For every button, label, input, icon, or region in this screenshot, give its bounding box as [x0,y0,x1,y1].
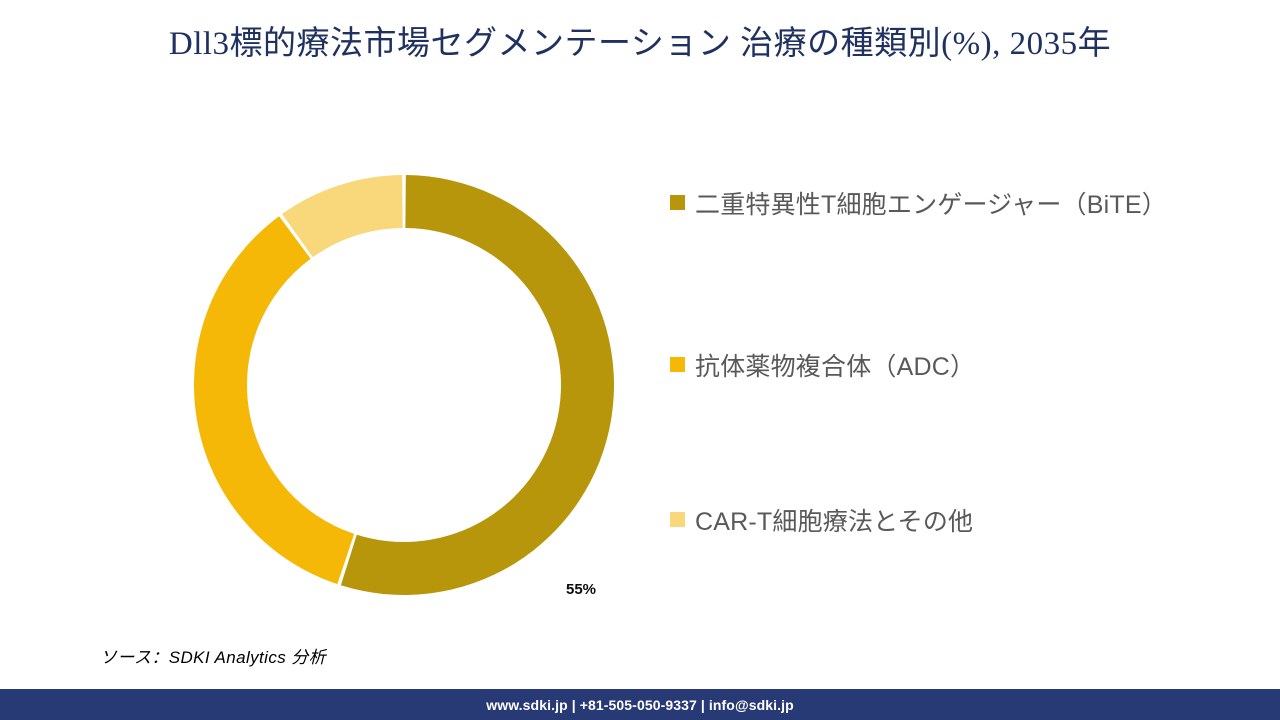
legend-item-bite[interactable]: 二重特異性T細胞エンゲージャー（BiTE） [670,186,1190,225]
donut-segment-2[interactable] [194,216,354,584]
source-note: ソース：SDKI Analytics 分析 [100,643,326,668]
legend-swatch-icon-adc [670,357,685,372]
legend-item-adc[interactable]: 抗体薬物複合体（ADC） [670,348,1190,387]
legend-label-bite: 二重特異性T細胞エンゲージャー（BiTE） [695,186,1167,225]
donut-chart-svg [194,175,614,595]
page-title: Dll3標的療法市場セグメンテーション 治療の種類別(%), 2035年 [0,24,1280,65]
legend-label-car-t: CAR-T細胞療法とその他 [695,503,973,542]
legend-swatch-icon-bite [670,195,685,210]
donut-chart: 55% [194,175,614,595]
slide-canvas: Dll3標的療法市場セグメンテーション 治療の種類別(%), 2035年 55%… [0,0,1280,720]
footer-contact-text: www.sdki.jp | +81-505-050-9337 | info@sd… [486,697,794,713]
donut-data-label-55: 55% [566,581,596,598]
legend-item-car-t[interactable]: CAR-T細胞療法とその他 [670,503,1190,542]
donut-segment-1[interactable] [341,175,614,595]
footer-bar: www.sdki.jp | +81-505-050-9337 | info@sd… [0,689,1280,720]
legend-label-adc: 抗体薬物複合体（ADC） [695,348,975,387]
legend-swatch-icon-car-t [670,512,685,527]
donut-segments [194,175,614,595]
